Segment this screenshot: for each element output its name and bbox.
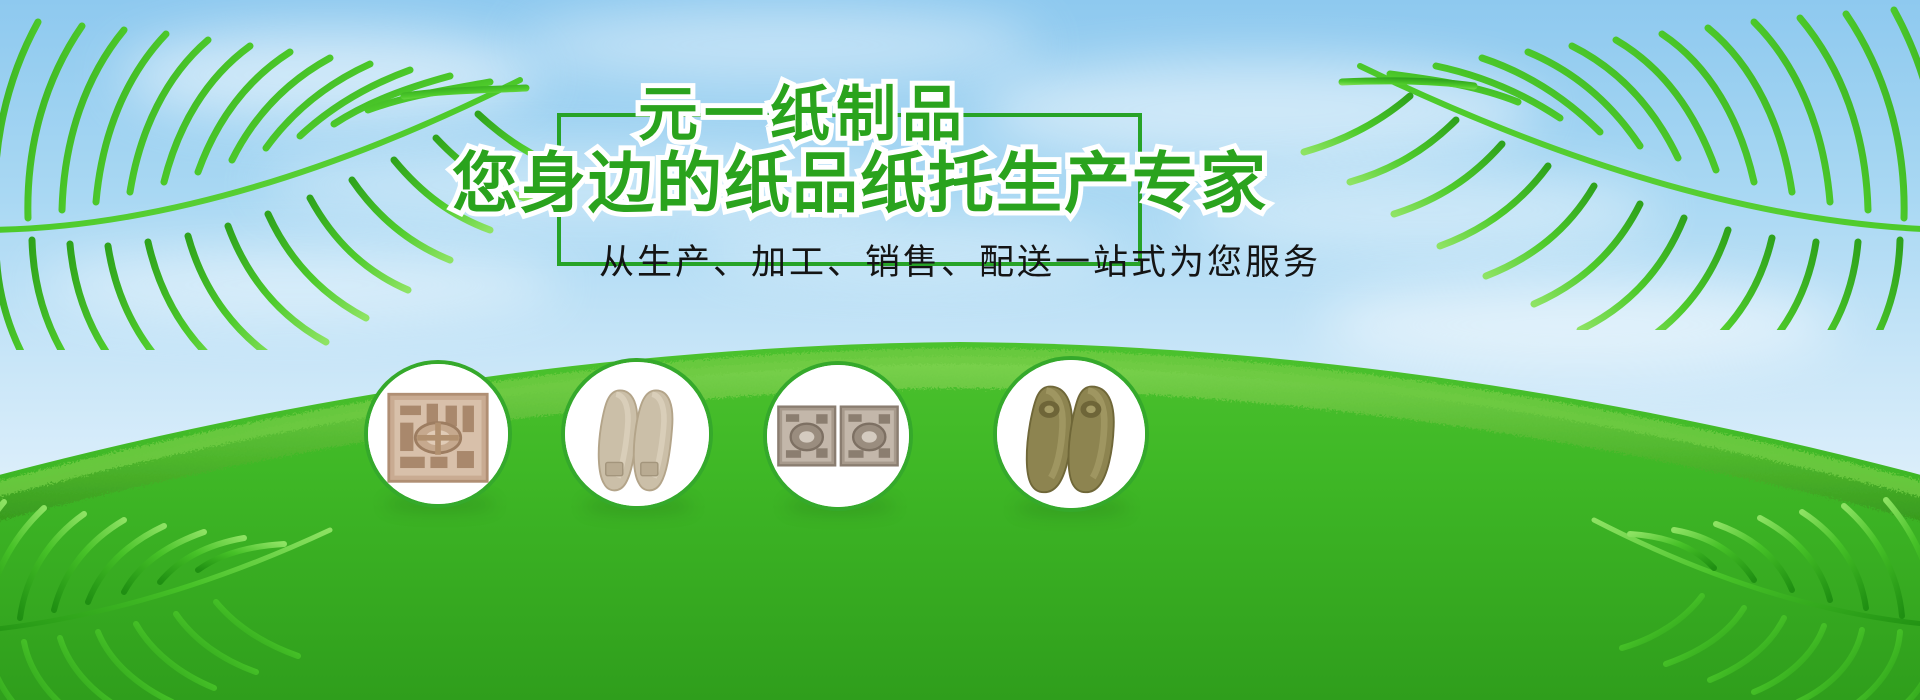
molded-pulp-shoe-inserts-icon: [565, 362, 709, 506]
product-circle-2[interactable]: [561, 358, 713, 510]
product-circle-4[interactable]: [993, 356, 1149, 512]
promo-banner: 元一纸制品 您身边的纸品纸托生产专家 从生产、加工、销售、配送一站式为您服务: [0, 0, 1920, 700]
molded-pulp-pair-trays-icon: [767, 365, 909, 507]
product-circles: [0, 0, 1920, 700]
molded-pulp-shoe-forms-icon: [997, 360, 1145, 508]
molded-pulp-tray-square-icon: [368, 364, 508, 504]
product-circle-3[interactable]: [763, 361, 913, 511]
product-circle-1[interactable]: [364, 360, 512, 508]
